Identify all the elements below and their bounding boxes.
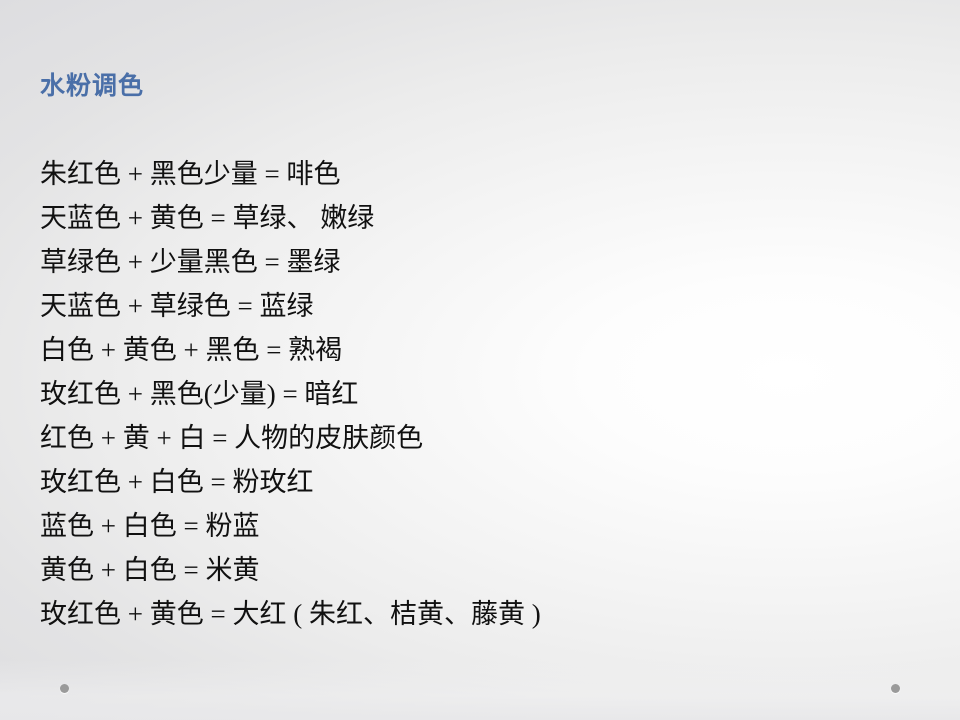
list-item: 玫红色 + 黄色 = 大红 ( 朱红、桔黄、藤黄 ) (40, 592, 920, 636)
content-list: 朱红色 + 黑色少量 = 啡色 天蓝色 + 黄色 = 草绿、 嫩绿 草绿色 + … (40, 152, 920, 636)
list-item: 天蓝色 + 草绿色 = 蓝绿 (40, 284, 920, 328)
list-item: 朱红色 + 黑色少量 = 啡色 (40, 152, 920, 196)
list-item: 玫红色 + 黑色(少量) = 暗红 (40, 372, 920, 416)
list-item: 草绿色 + 少量黑色 = 墨绿 (40, 240, 920, 284)
dot-icon (60, 684, 69, 693)
slide-canvas: 水粉调色 朱红色 + 黑色少量 = 啡色 天蓝色 + 黄色 = 草绿、 嫩绿 草… (0, 0, 960, 720)
list-item: 白色 + 黄色 + 黑色 = 熟褐 (40, 328, 920, 372)
dot-icon (891, 684, 900, 693)
list-item: 黄色 + 白色 = 米黄 (40, 548, 920, 592)
list-item: 玫红色 + 白色 = 粉玫红 (40, 460, 920, 504)
list-item: 天蓝色 + 黄色 = 草绿、 嫩绿 (40, 196, 920, 240)
list-item: 红色 + 黄 + 白 = 人物的皮肤颜色 (40, 416, 920, 460)
footer-decoration (0, 676, 960, 720)
list-item: 蓝色 + 白色 = 粉蓝 (40, 504, 920, 548)
page-title: 水粉调色 (40, 66, 144, 102)
